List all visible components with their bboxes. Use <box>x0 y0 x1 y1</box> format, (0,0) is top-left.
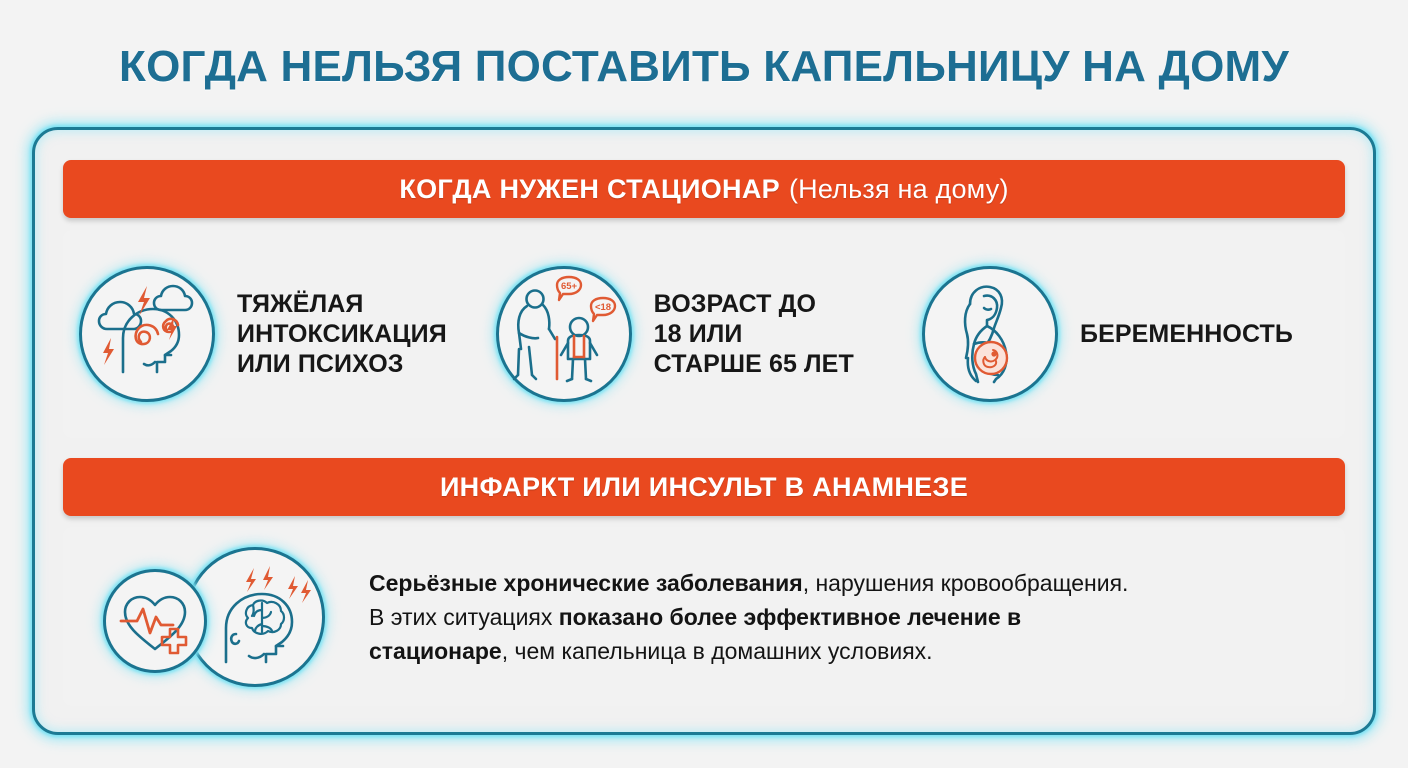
paragraph-bold-1: Серьёзные хронические заболевания <box>369 570 803 596</box>
condition-label-age: ВОЗРАСТ ДО 18 ИЛИ СТАРШЕ 65 ЛЕТ <box>654 289 854 379</box>
banner-history-title: ИНФАРКТ ИЛИ ИНСУЛЬТ В АНАМНЕЗЕ <box>440 472 968 503</box>
label-line: ВОЗРАСТ ДО <box>654 289 854 319</box>
condition-item-intoxication: ТЯЖЁЛАЯ ИНТОКСИКАЦИЯ ИЛИ ПСИХОЗ <box>79 266 496 402</box>
dual-icon-group <box>103 547 351 687</box>
condition-item-pregnancy: БЕРЕМЕННОСТЬ <box>922 266 1329 402</box>
banner-hospital-title: КОГДА НУЖЕН СТАЦИОНАР <box>399 174 780 205</box>
chronic-disease-paragraph: Серьёзные хронические заболевания, наруш… <box>369 566 1129 668</box>
pregnant-woman-icon <box>922 266 1058 402</box>
condition-label-intoxication: ТЯЖЁЛАЯ ИНТОКСИКАЦИЯ ИЛИ ПСИХОЗ <box>237 289 447 379</box>
banner-hospital-subtitle: (Нельзя на дому) <box>789 174 1009 205</box>
page-title: КОГДА НЕЛЬЗЯ ПОСТАВИТЬ КАПЕЛЬНИЦУ НА ДОМ… <box>0 41 1408 93</box>
hospital-conditions-panel: ТЯЖЁЛАЯ ИНТОКСИКАЦИЯ ИЛИ ПСИХОЗ <box>63 230 1345 438</box>
banner-hospital-required: КОГДА НУЖЕН СТАЦИОНАР (Нельзя на дому) <box>63 160 1345 218</box>
label-line: ИЛИ ПСИХОЗ <box>237 349 447 379</box>
bubble-65plus-text: 65+ <box>561 281 578 292</box>
chronic-disease-panel: Серьёзные хронические заболевания, наруш… <box>63 527 1345 706</box>
label-line: ТЯЖЁЛАЯ <box>237 289 447 319</box>
condition-label-pregnancy: БЕРЕМЕННОСТЬ <box>1080 319 1293 349</box>
heart-ecg-cross-icon <box>103 569 207 673</box>
paragraph-rest-1: , нарушения кровообращения. <box>803 570 1129 596</box>
paragraph-line-1: Серьёзные хронические заболевания, наруш… <box>369 566 1129 600</box>
label-line: БЕРЕМЕННОСТЬ <box>1080 319 1293 349</box>
banner-heart-stroke-history: ИНФАРКТ ИЛИ ИНСУЛЬТ В АНАМНЕЗЕ <box>63 458 1345 516</box>
label-line: ИНТОКСИКАЦИЯ <box>237 319 447 349</box>
main-card: КОГДА НУЖЕН СТАЦИОНАР (Нельзя на дому) <box>32 127 1376 735</box>
bubble-under18-text: <18 <box>595 302 611 313</box>
label-line: 18 ИЛИ <box>654 319 854 349</box>
paragraph-start-2: В этих ситуациях <box>369 604 559 630</box>
label-line: СТАРШЕ 65 ЛЕТ <box>654 349 854 379</box>
paragraph-end-2: , чем капельница в домашних условиях. <box>502 638 933 664</box>
condition-item-age: 65+ <18 ВОЗРАСТ ДО 18 ИЛИ СТАРШЕ 65 ЛЕТ <box>496 266 922 402</box>
elderly-and-child-icon: 65+ <18 <box>496 266 632 402</box>
paragraph-line-2: В этих ситуациях показано более эффектив… <box>369 600 1129 668</box>
head-storm-icon <box>79 266 215 402</box>
